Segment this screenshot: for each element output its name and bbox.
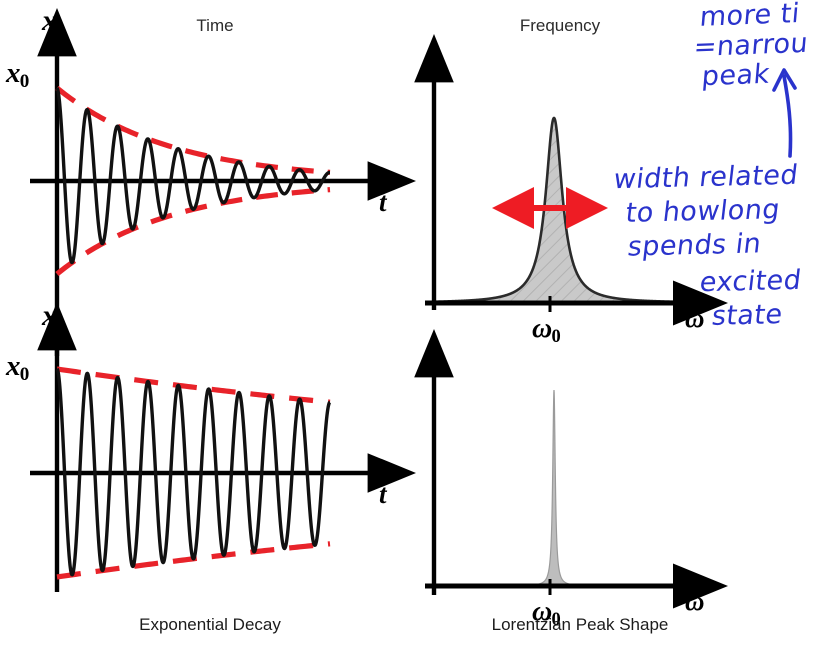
y-axis-symbol-x-fast: x	[42, 4, 57, 38]
envelope-upper-slow	[57, 369, 330, 402]
annotation-line-1: more ti	[699, 0, 801, 32]
annotation-line-6: spends in	[626, 230, 763, 261]
panel-time-slow-decay: x x0 t	[0, 330, 400, 600]
frequency-narrow-plot	[420, 355, 700, 595]
y-start-label-x0-slow: x0	[6, 350, 29, 386]
time-fast-decay-plot	[0, 26, 400, 326]
column-title-frequency: Frequency	[490, 16, 630, 36]
figure-root: Time Frequency x x0 t	[0, 0, 836, 656]
x-axis-symbol-t-fast: t	[379, 187, 387, 218]
annotation-line-8: state	[710, 301, 784, 331]
caption-exponential-decay: Exponential Decay	[90, 615, 330, 635]
annotation-line-2: =narrou	[693, 30, 810, 62]
annotation-line-4: width related	[612, 162, 800, 194]
panel-frequency-narrow: ω ω0	[420, 355, 700, 595]
y-start-label-x0-fast: x0	[6, 57, 29, 93]
panel-time-fast-decay: x x0 t	[0, 26, 400, 326]
caption-lorentzian-peak-shape: Lorentzian Peak Shape	[435, 615, 725, 635]
x-axis-symbol-omega-broad: ω	[685, 303, 705, 334]
annotation-line-7: excited	[698, 267, 803, 297]
center-label-omega0-broad: ω0	[532, 313, 561, 347]
lorentzian-narrow-curve	[436, 390, 672, 586]
x-axis-symbol-omega-narrow: ω	[685, 586, 705, 617]
envelope-upper-fast	[57, 88, 330, 172]
annotation-line-3: peak	[701, 61, 771, 91]
y-axis-symbol-x-slow: x	[42, 299, 57, 333]
time-slow-decay-plot	[0, 330, 400, 600]
annotation-line-5: to howlong	[624, 196, 781, 228]
x-axis-symbol-t-slow: t	[379, 479, 387, 510]
annotation-arrow-up-icon	[770, 62, 816, 158]
